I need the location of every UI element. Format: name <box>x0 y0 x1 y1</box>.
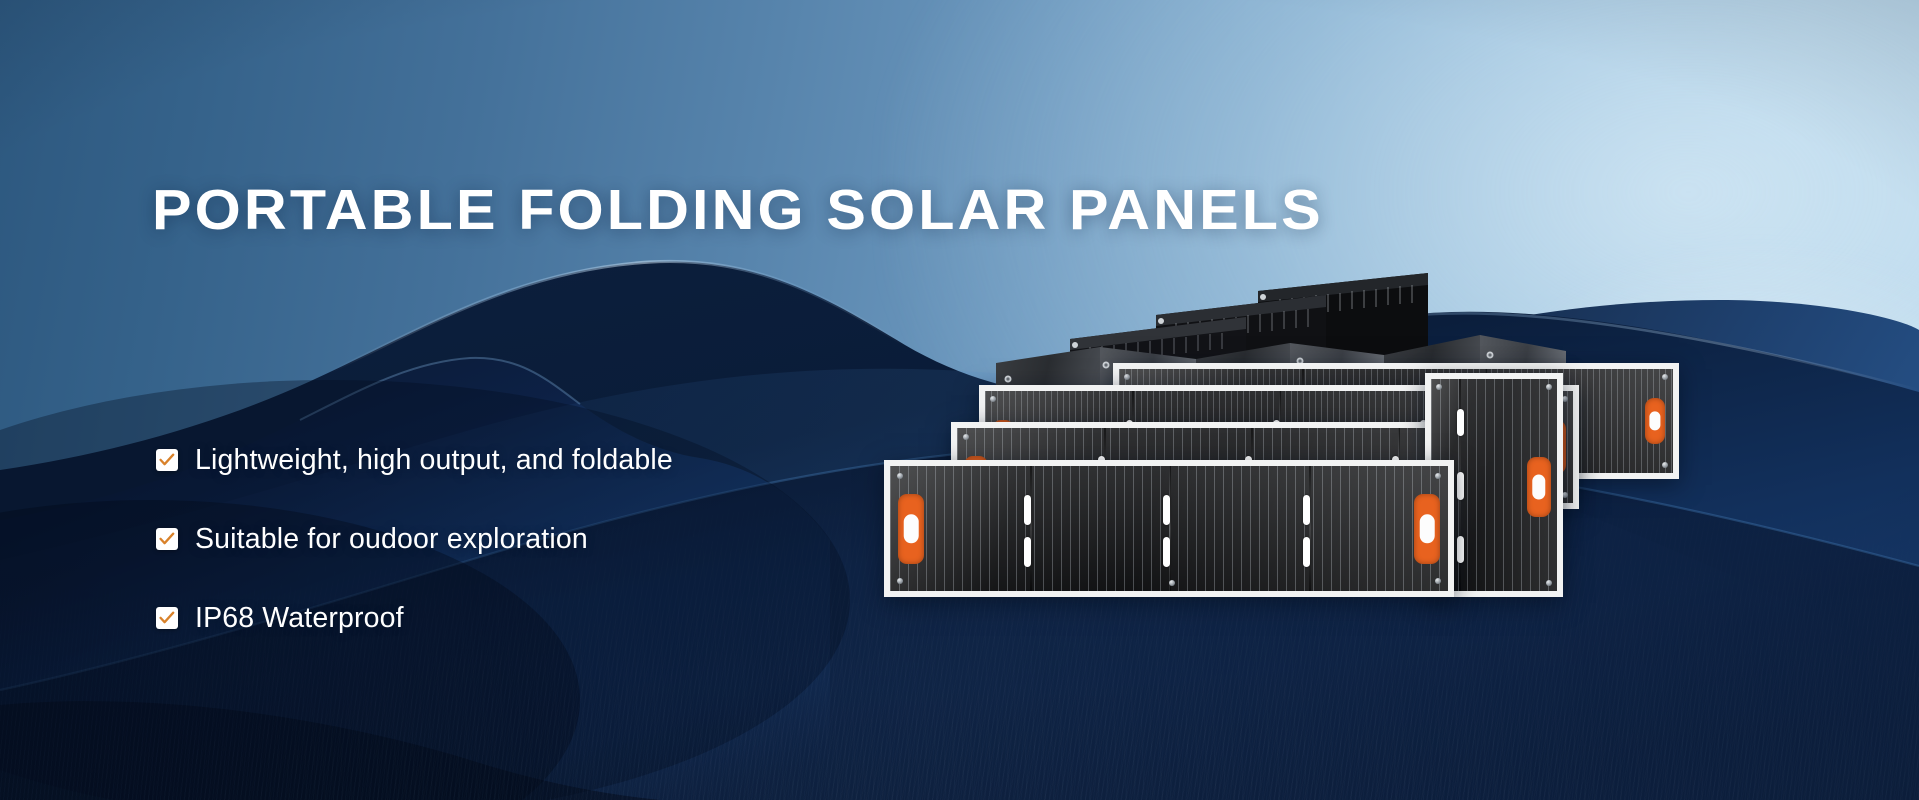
list-item: IP68 Waterproof <box>156 598 673 638</box>
feature-label: Lightweight, high output, and foldable <box>195 444 673 477</box>
list-item: Suitable for oudoor exploration <box>156 519 673 559</box>
feature-label: IP68 Waterproof <box>195 602 404 635</box>
banner-content: PORTABLE FOLDING SOLAR PANELS Lightweigh… <box>0 0 1919 800</box>
checkbox-checked-icon <box>156 449 178 471</box>
page-title: PORTABLE FOLDING SOLAR PANELS <box>152 182 1324 239</box>
checkbox-checked-icon <box>156 528 178 550</box>
feature-list: Lightweight, high output, and foldable S… <box>156 440 673 638</box>
list-item: Lightweight, high output, and foldable <box>156 440 673 480</box>
checkbox-checked-icon <box>156 607 178 629</box>
feature-label: Suitable for oudoor exploration <box>195 523 588 556</box>
hero-banner: PORTABLE FOLDING SOLAR PANELS Lightweigh… <box>0 0 1919 800</box>
